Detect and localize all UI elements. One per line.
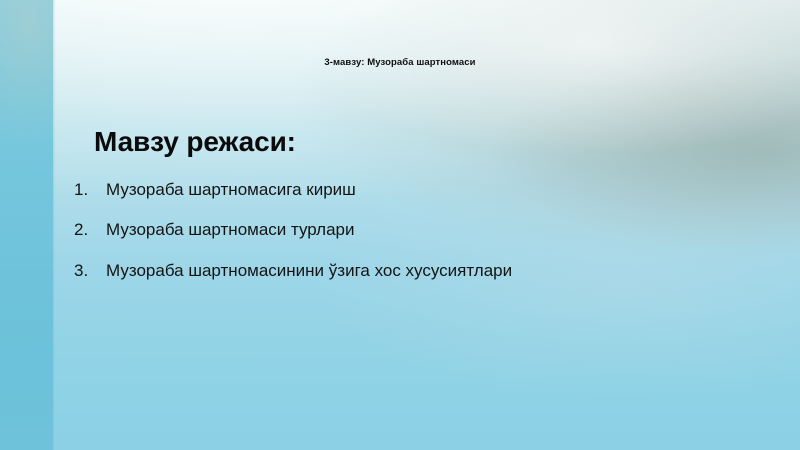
- list-item: 1. Музораба шартномасига кириш: [74, 179, 734, 200]
- list-item: 2. Музораба шартномаси турлари: [74, 219, 734, 240]
- list-item-label: Музораба шартномасинини ўзига хос хусуси…: [106, 260, 512, 281]
- list-item: 3. Музораба шартномасинини ўзига хос хус…: [74, 260, 734, 281]
- slide-title: Мавзу режаси:: [94, 126, 296, 158]
- slide-content: 3-мавзу: Музораба шартномаси Мавзу режас…: [0, 0, 800, 450]
- list-item-number: 2.: [74, 219, 106, 240]
- list-item-label: Музораба шартномаси турлари: [106, 219, 355, 240]
- topic-plan-list: 1. Музораба шартномасига кириш 2. Музора…: [74, 179, 734, 281]
- list-item-number: 3.: [74, 260, 106, 281]
- list-item-number: 1.: [74, 179, 106, 200]
- presentation-slide: 3-мавзу: Музораба шартномаси Мавзу режас…: [0, 0, 800, 450]
- slide-header-text: 3-мавзу: Музораба шартномаси: [0, 57, 800, 68]
- list-item-label: Музораба шартномасига кириш: [106, 179, 356, 200]
